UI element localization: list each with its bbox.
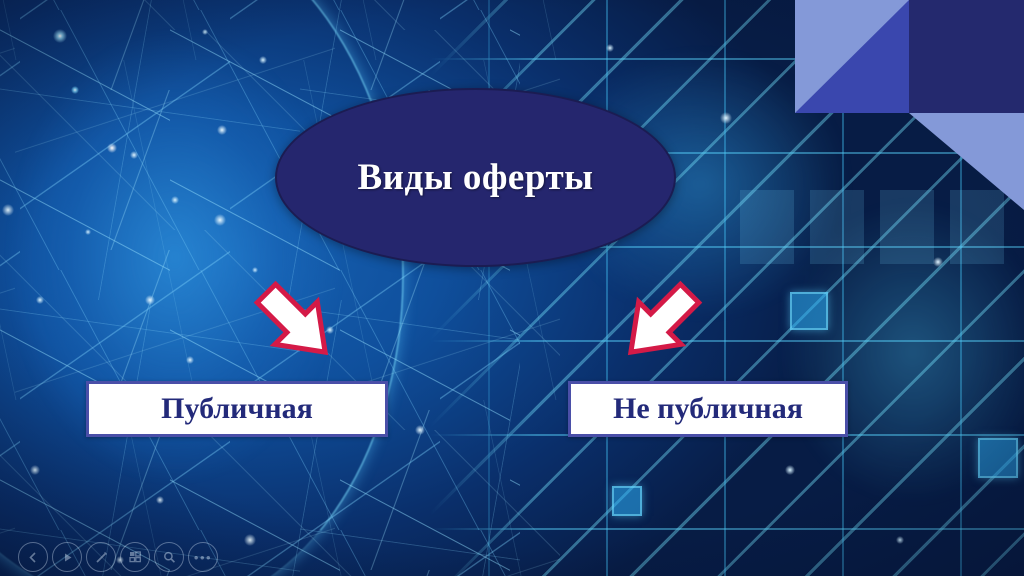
corner-diagonal-triangle xyxy=(795,0,909,113)
label-text-non-public: Не публичная xyxy=(613,392,803,426)
presentation-slide: Виды оферты Публичная Не публичная xyxy=(0,0,1024,576)
chevron-left-icon xyxy=(27,551,40,564)
magnifier-icon xyxy=(162,550,177,565)
grid-slides-icon xyxy=(128,550,143,565)
all-slides-button[interactable] xyxy=(120,542,150,572)
pen-icon xyxy=(94,550,109,565)
corner-light-square xyxy=(795,0,909,113)
slide-title: Виды оферты xyxy=(357,156,593,199)
zoom-button[interactable] xyxy=(154,542,184,572)
arrow-down-right xyxy=(616,272,708,370)
label-box-public: Публичная xyxy=(86,381,388,437)
more-options-button[interactable]: ••• xyxy=(188,542,218,572)
presentation-toolbar[interactable]: ••• xyxy=(18,542,218,572)
pen-tool-button[interactable] xyxy=(86,542,116,572)
label-box-non-public: Не публичная xyxy=(568,381,848,437)
play-arrow-icon xyxy=(61,551,74,564)
label-text-public: Публичная xyxy=(161,392,313,426)
corner-decoration xyxy=(795,0,1024,210)
title-ellipse: Виды оферты xyxy=(275,88,676,267)
ellipsis-icon: ••• xyxy=(194,551,212,564)
corner-lower-triangle xyxy=(909,113,1024,210)
next-slide-button[interactable] xyxy=(52,542,82,572)
previous-slide-button[interactable] xyxy=(18,542,48,572)
arrow-down-left xyxy=(248,272,340,370)
